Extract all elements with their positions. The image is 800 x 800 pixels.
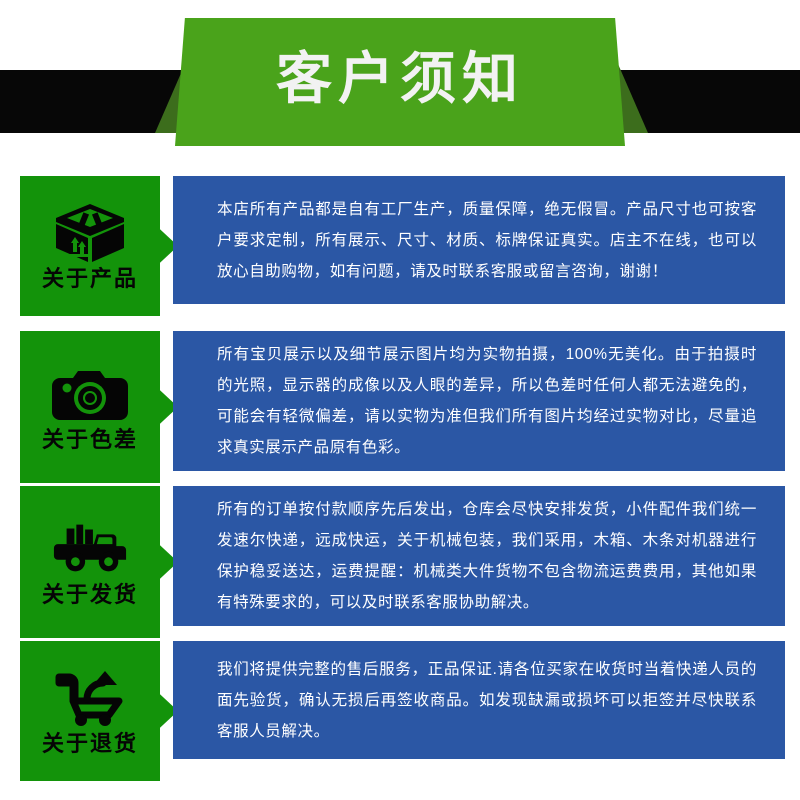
badge-label-product: 关于产品 bbox=[42, 268, 138, 290]
panel-text-returns: 我们将提供完整的售后服务，正品保证.请各位买家在收货时当着快递人员的面先验货，确… bbox=[173, 654, 785, 747]
badge-product[interactable]: 关于产品 bbox=[20, 176, 160, 316]
badge-color[interactable]: 关于色差 bbox=[20, 331, 160, 483]
panel-returns: 我们将提供完整的售后服务，正品保证.请各位买家在收货时当着快递人员的面先验货，确… bbox=[173, 641, 785, 759]
delivery-truck-icon bbox=[51, 518, 129, 580]
panel-text-color: 所有宝贝展示以及细节展示图片均为实物拍摄，100%无美化。由于拍摄时的光照，显示… bbox=[173, 339, 785, 463]
package-box-icon bbox=[51, 202, 129, 264]
ribbon-banner: 客户须知 bbox=[175, 18, 625, 146]
badge-label-shipping: 关于发货 bbox=[42, 584, 138, 606]
page-header: 客户须知 bbox=[0, 0, 800, 160]
badge-label-color: 关于色差 bbox=[42, 429, 138, 451]
panel-text-shipping: 所有的订单按付款顺序先后发出，仓库会尽快安排发货，小件配件我们统一发速尔快递，远… bbox=[173, 494, 785, 618]
camera-icon bbox=[51, 363, 129, 425]
panel-shipping: 所有的订单按付款顺序先后发出，仓库会尽快安排发货，小件配件我们统一发速尔快递，远… bbox=[173, 486, 785, 626]
badge-shipping[interactable]: 关于发货 bbox=[20, 486, 160, 638]
panel-text-product: 本店所有产品都是自有工厂生产，质量保障，绝无假冒。产品尺寸也可按客户要求定制，所… bbox=[173, 194, 785, 287]
panel-product: 本店所有产品都是自有工厂生产，质量保障，绝无假冒。产品尺寸也可按客户要求定制，所… bbox=[173, 176, 785, 304]
badge-label-returns: 关于退货 bbox=[42, 733, 138, 755]
badge-returns[interactable]: 关于退货 bbox=[20, 641, 160, 781]
return-cart-icon bbox=[51, 667, 129, 729]
panel-color: 所有宝贝展示以及细节展示图片均为实物拍摄，100%无美化。由于拍摄时的光照，显示… bbox=[173, 331, 785, 471]
page-title: 客户须知 bbox=[276, 51, 524, 113]
